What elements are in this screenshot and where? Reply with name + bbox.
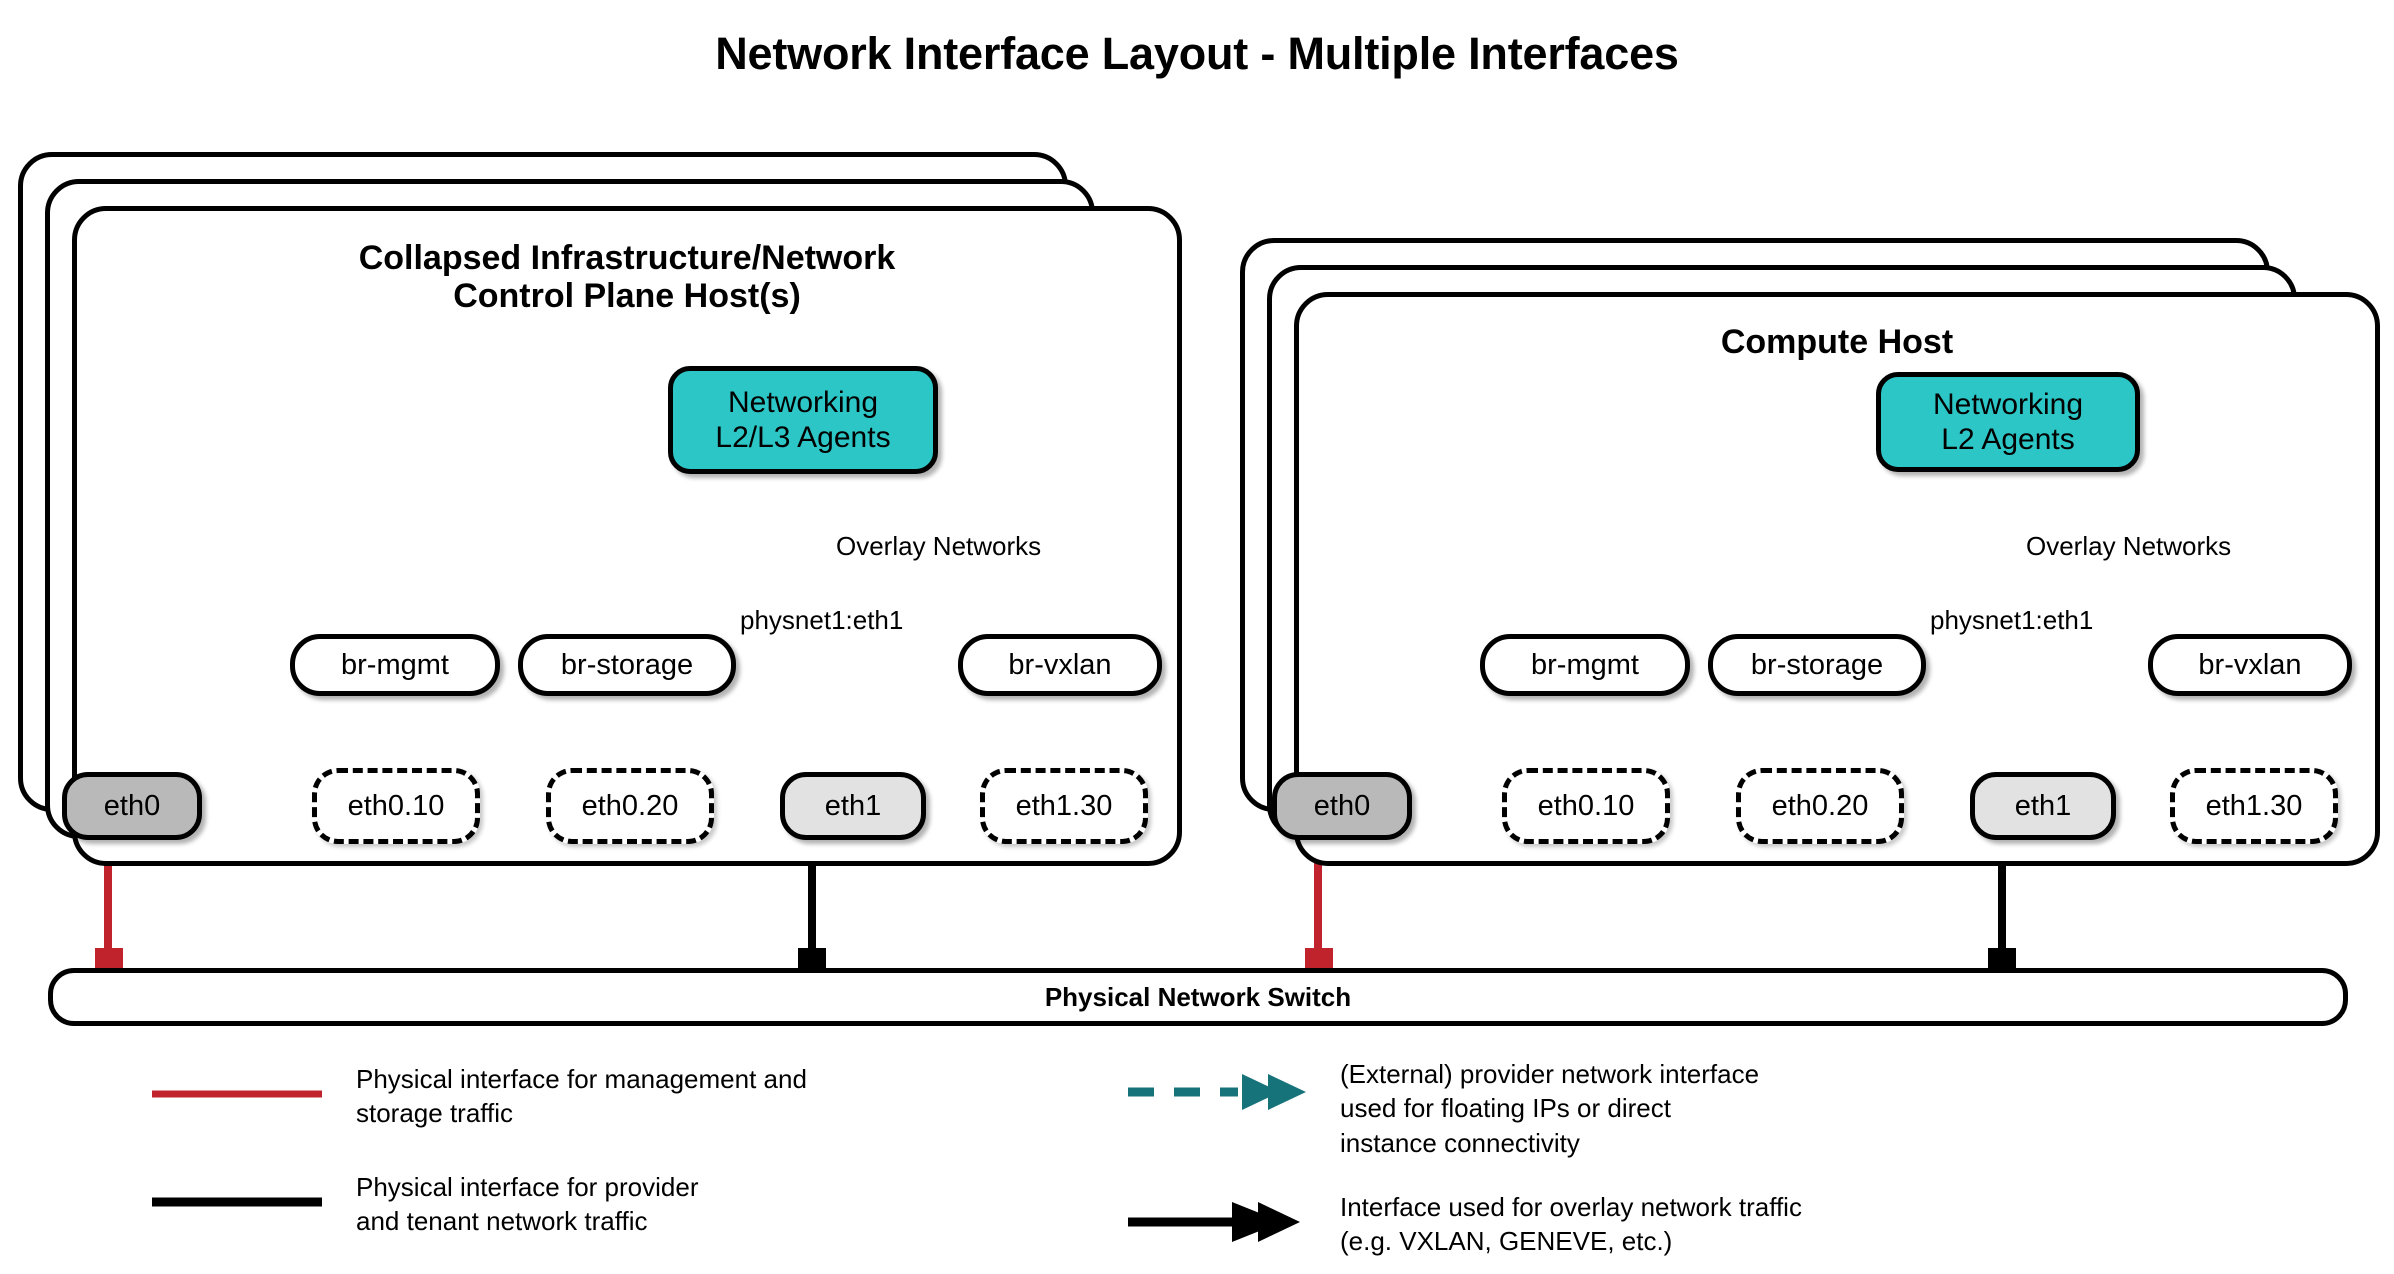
bridge-node-br-storage-left[interactable]: br-storage: [518, 634, 736, 696]
host-title-compute: Compute Host: [1299, 323, 2375, 361]
agent-node-compute[interactable]: Networking L2 Agents: [1876, 372, 2140, 472]
host-title-control-plane: Collapsed Infrastructure/Network Control…: [77, 239, 1177, 316]
interface-node-eth1-left[interactable]: eth1: [780, 772, 926, 840]
diagram-canvas: Network Interface Layout - Multiple Inte…: [0, 0, 2394, 1274]
interface-node-eth0-10-left[interactable]: eth0.10: [312, 768, 480, 844]
interface-node-eth0-20-right[interactable]: eth0.20: [1736, 768, 1904, 844]
bridge-node-br-mgmt-right[interactable]: br-mgmt: [1480, 634, 1690, 696]
physical-network-switch[interactable]: Physical Network Switch: [48, 968, 2348, 1026]
agent-node-control-plane[interactable]: Networking L2/L3 Agents: [668, 366, 938, 474]
interface-node-eth1-right[interactable]: eth1: [1970, 772, 2116, 840]
legend-label-provider-tenant: Physical interface for provider and tena…: [356, 1170, 916, 1239]
overlay-label-right: Overlay Networks: [2026, 531, 2231, 562]
interface-node-eth0-left[interactable]: eth0: [62, 772, 202, 840]
legend-swatch-overlay-traffic: [1128, 1202, 1300, 1242]
interface-node-eth0-right[interactable]: eth0: [1272, 772, 1412, 840]
physnet-label-left: physnet1:eth1: [740, 605, 903, 636]
overlay-label-left: Overlay Networks: [836, 531, 1041, 562]
interface-node-eth1-30-left[interactable]: eth1.30: [980, 768, 1148, 844]
legend-swatch-external-provider: [1128, 1074, 1306, 1110]
host-control-plane[interactable]: Collapsed Infrastructure/Network Control…: [18, 152, 1188, 872]
bridge-node-br-storage-right[interactable]: br-storage: [1708, 634, 1926, 696]
physnet-label-right: physnet1:eth1: [1930, 605, 2093, 636]
interface-node-eth0-10-right[interactable]: eth0.10: [1502, 768, 1670, 844]
bridge-node-br-vxlan-left[interactable]: br-vxlan: [958, 634, 1162, 696]
physical-network-switch-label: Physical Network Switch: [1045, 982, 1351, 1013]
legend-label-overlay-traffic: Interface used for overlay network traff…: [1340, 1190, 2040, 1259]
interface-node-eth0-20-left[interactable]: eth0.20: [546, 768, 714, 844]
bridge-node-br-mgmt-left[interactable]: br-mgmt: [290, 634, 500, 696]
bridge-node-br-vxlan-right[interactable]: br-vxlan: [2148, 634, 2352, 696]
interface-node-eth1-30-right[interactable]: eth1.30: [2170, 768, 2338, 844]
legend-label-mgmt-storage: Physical interface for management and st…: [356, 1062, 916, 1131]
legend-label-external-provider: (External) provider network interface us…: [1340, 1057, 1980, 1160]
page-title: Network Interface Layout - Multiple Inte…: [0, 28, 2394, 80]
